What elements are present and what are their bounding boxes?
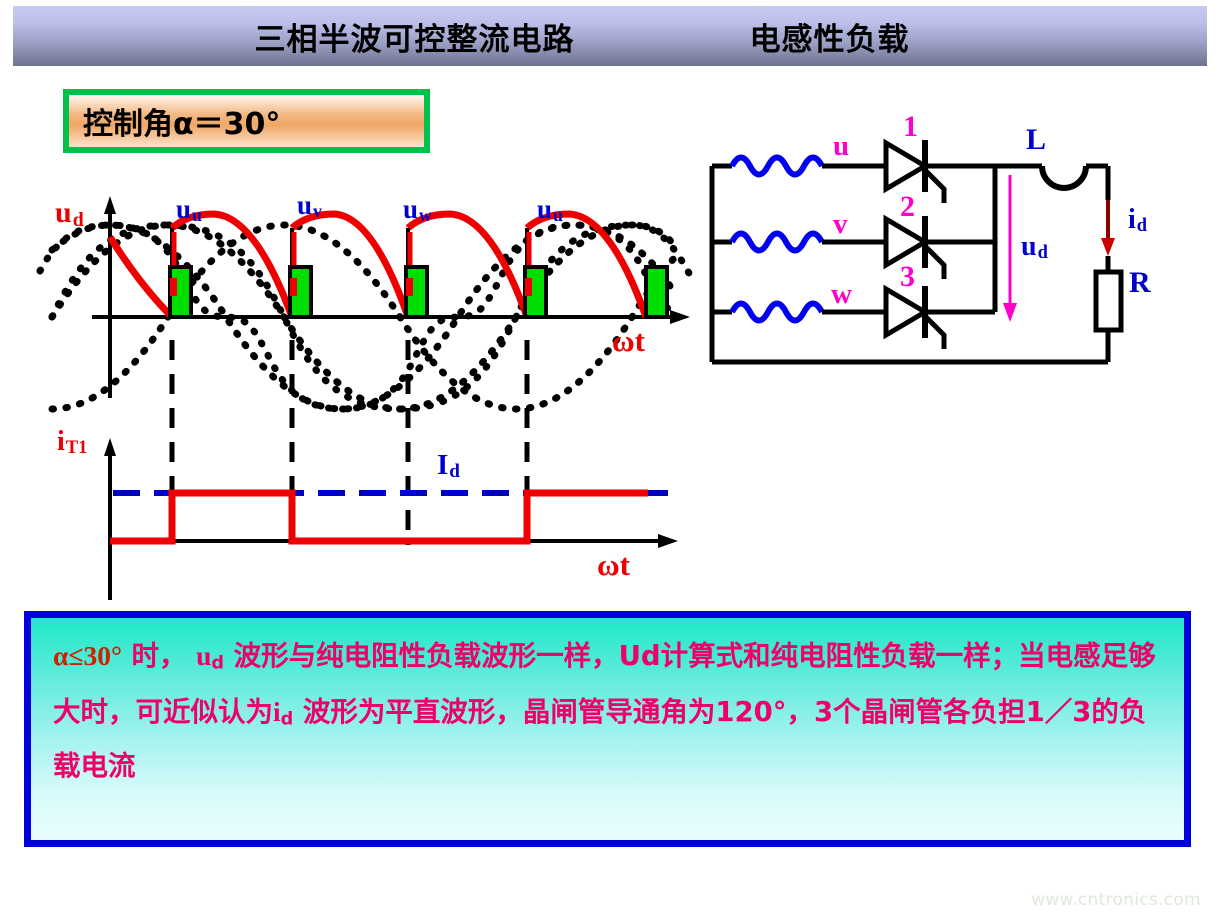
- top-xaxis-label: ωt: [612, 325, 645, 356]
- dotted-phase-sines: [52, 133, 690, 409]
- gate-pulse: [170, 267, 191, 317]
- header-bar: 三相半波可控整流电路 电感性负载: [13, 6, 1207, 66]
- note-lead: α≤30°: [53, 640, 122, 671]
- ud-axis-label: ud: [55, 198, 84, 230]
- thyristor-3: [886, 286, 995, 349]
- note-line2-i-sub: d: [281, 709, 294, 729]
- page-subtitle: 电感性负载: [750, 14, 910, 59]
- phase-label-uu: uu: [176, 196, 202, 225]
- coil-v: [732, 234, 822, 251]
- ud-vertical-jumps: [174, 232, 529, 300]
- ud-voltage-arrow: [1003, 175, 1017, 322]
- circuit-phase-label-w: w: [831, 280, 852, 309]
- resistor-label: R: [1129, 268, 1151, 298]
- ud-circuit-label: ud: [1021, 233, 1048, 262]
- resistor-R: [1096, 272, 1121, 330]
- it1-pulse-waveform: [110, 493, 648, 541]
- circuit-phase-label-u: u: [833, 132, 849, 161]
- note-line1-a: 时，: [122, 640, 196, 672]
- ud-rectified-curve: [110, 214, 646, 317]
- note-text: α≤30° 时， ud 波形与纯电阻性负载波形一样，Ud计算式和纯电阻性负载一样…: [53, 632, 1164, 790]
- bottom-xaxis-label: ωt: [597, 549, 630, 580]
- header-title-group: 三相半波可控整流电路 电感性负载: [0, 14, 1179, 59]
- circuit-diagram: [712, 140, 1121, 362]
- inductor-label: L: [1026, 125, 1046, 155]
- inductor-L: [1042, 166, 1086, 188]
- thyristor-3-gate: [925, 316, 944, 349]
- control-angle-label: 控制角α＝30°: [69, 99, 280, 143]
- thyristor-label-3: 3: [900, 262, 915, 292]
- gate-pulse: [646, 267, 667, 317]
- note-line1-b: 波形与纯电阻性负载波形一样，Ud计算式和纯电: [224, 640, 826, 672]
- note-line2-i: i: [273, 696, 281, 727]
- thyristor-label-2: 2: [900, 192, 915, 222]
- firing-angle-connectors: [172, 340, 527, 545]
- gate-pulse: [406, 267, 427, 317]
- page-title: 三相半波可控整流电路: [255, 14, 575, 59]
- id-current-arrow: [1101, 200, 1115, 256]
- dotted-sine-group: [40, 225, 676, 409]
- circuit-phase-label-v: v: [833, 210, 848, 239]
- phase-label-uv: uv: [297, 192, 322, 221]
- gate-pulse: [290, 267, 311, 317]
- thyristor-2-gate: [925, 246, 944, 279]
- phase-label-uu2: uu: [537, 196, 563, 225]
- firing-jump-lines: [172, 228, 527, 317]
- coil-u: [732, 158, 822, 175]
- thyristor-1-gate: [925, 170, 944, 203]
- note-line1-u-sub: d: [211, 654, 224, 674]
- top-waveform-axes: [92, 196, 690, 398]
- note-line2-b: 波形为平直波形，: [293, 696, 523, 728]
- gate-pulse: [525, 267, 546, 317]
- coil-w: [732, 304, 822, 321]
- phase-label-uw: uw: [403, 196, 432, 225]
- control-angle-box: 控制角α＝30°: [63, 89, 430, 153]
- id-level-label: Id: [437, 451, 460, 482]
- thyristor-label-1: 1: [903, 112, 918, 142]
- note-box: α≤30° 时， ud 波形与纯电阻性负载波形一样，Ud计算式和纯电阻性负载一样…: [24, 611, 1191, 847]
- watermark: www.cntronics.com: [1031, 890, 1201, 910]
- bottom-waveform-axes: [104, 438, 678, 600]
- it1-axis-label: iT1: [57, 428, 87, 457]
- gate-pulse-group: [170, 267, 667, 317]
- dotted-sine-phases: [52, 225, 676, 409]
- note-line1-u: u: [196, 640, 211, 671]
- id-circuit-label: id: [1128, 206, 1147, 235]
